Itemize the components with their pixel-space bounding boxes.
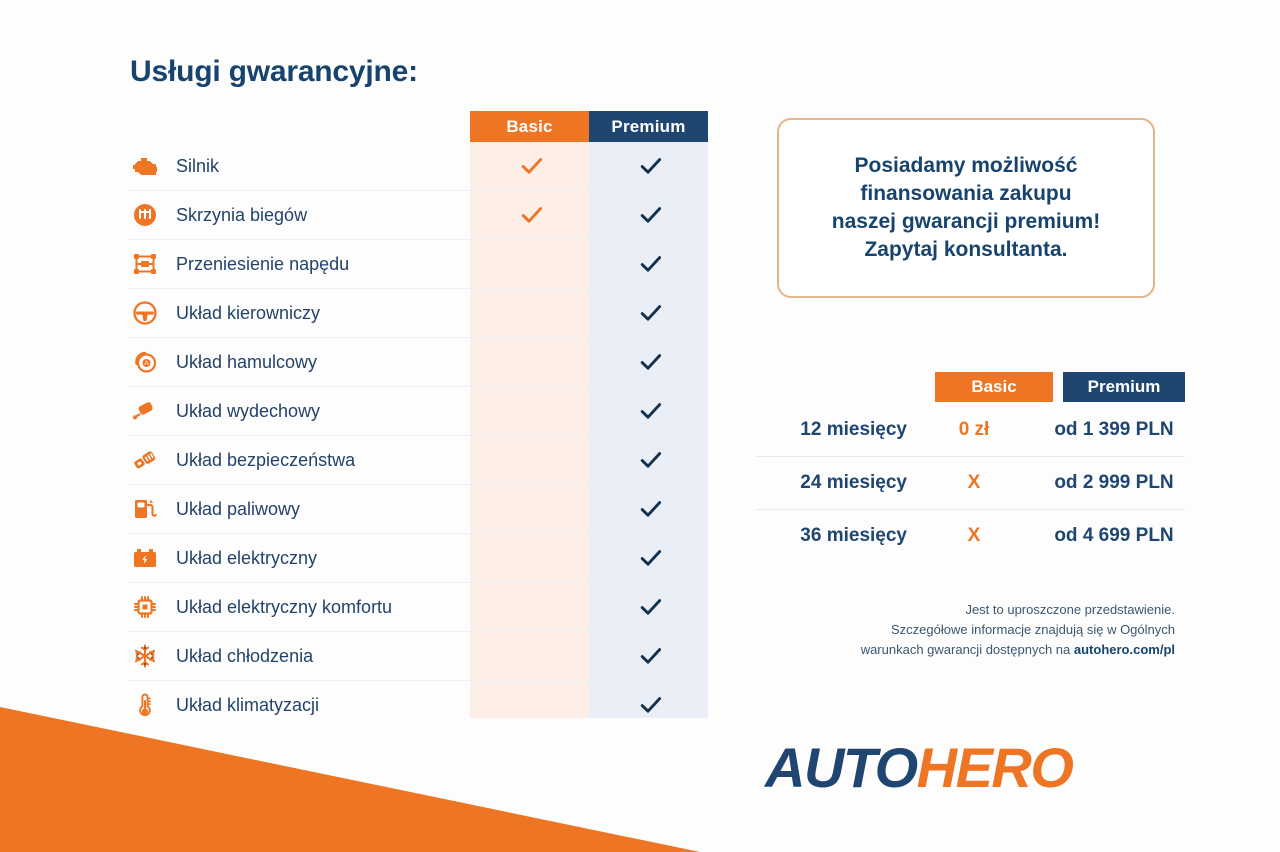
pricing-header-basic[interactable]: Basic: [935, 372, 1053, 402]
feature-row: Skrzynia biegów: [128, 191, 710, 240]
feature-rows: SilnikSkrzynia biegówPrzeniesienie napęd…: [128, 111, 710, 729]
premium-check-icon: [591, 549, 710, 567]
feature-label: Układ klimatyzacji: [162, 695, 472, 716]
premium-check-icon: [591, 500, 710, 518]
feature-label: Skrzynia biegów: [162, 205, 472, 226]
basic-check-icon: [472, 157, 591, 175]
pricing-basic-value: X: [915, 472, 1033, 494]
feature-row: Układ chłodzenia: [128, 632, 710, 681]
pricing-table: Basic Premium 12 miesięcy0 złod 1 399 PL…: [755, 372, 1185, 562]
pricing-term: 24 miesięcy: [755, 472, 915, 494]
disclaimer-line-3-prefix: warunkach gwarancji dostępnych na: [861, 642, 1074, 657]
feature-label: Układ wydechowy: [162, 401, 472, 422]
exhaust-muffler-icon: [128, 400, 162, 422]
feature-label: Układ elektryczny: [162, 548, 472, 569]
pricing-basic-value: X: [915, 525, 1033, 547]
callout-line-4: Zapytaj konsultanta.: [864, 238, 1067, 261]
pricing-header-gap: [1053, 372, 1063, 402]
pricing-header-row: Basic Premium: [755, 372, 1185, 402]
feature-label: Układ paliwowy: [162, 499, 472, 520]
drivetrain-axle-icon: [128, 252, 162, 276]
feature-comparison-table: Basic Premium SilnikSkrzynia biegówPrzen…: [128, 111, 710, 729]
feature-row: Układ elektryczny komfortu: [128, 583, 710, 632]
feature-row: Układ kierowniczy: [128, 289, 710, 338]
pricing-premium-value: od 4 699 PLN: [1043, 525, 1185, 547]
feature-row: Układ hamulcowy: [128, 338, 710, 387]
feature-label: Silnik: [162, 156, 472, 177]
premium-check-icon: [591, 206, 710, 224]
feature-label: Układ hamulcowy: [162, 352, 472, 373]
feature-row: Układ elektryczny: [128, 534, 710, 583]
logo-text-hero: HERO: [917, 736, 1073, 799]
premium-check-icon: [591, 451, 710, 469]
premium-check-icon: [591, 353, 710, 371]
callout-line-1: Posiadamy możliwość: [855, 154, 1078, 177]
offer-panel: Posiadamy możliwość finansowania zakupu …: [745, 0, 1245, 852]
thermometer-icon: [128, 692, 162, 718]
pricing-row: 24 miesięcyXod 2 999 PLN: [755, 457, 1185, 510]
feature-row: Układ bezpieczeństwa: [128, 436, 710, 485]
chip-icon: [128, 595, 162, 619]
feature-row: Przeniesienie napędu: [128, 240, 710, 289]
disclaimer-line-2: Szczegółowe informacje znajdują się w Og…: [891, 622, 1175, 637]
premium-check-icon: [591, 402, 710, 420]
feature-row: Układ klimatyzacji: [128, 681, 710, 729]
feature-row: Układ wydechowy: [128, 387, 710, 436]
feature-label: Układ chłodzenia: [162, 646, 472, 667]
snowflake-icon: [128, 644, 162, 668]
callout-line-2: finansowania zakupu: [860, 182, 1071, 205]
gearbox-icon: [128, 203, 162, 227]
pricing-rows: 12 miesięcy0 złod 1 399 PLN24 miesięcyXo…: [755, 404, 1185, 562]
pricing-premium-value: od 1 399 PLN: [1043, 419, 1185, 441]
premium-check-icon: [591, 696, 710, 714]
autohero-website-link[interactable]: autohero.com/pl: [1074, 642, 1175, 657]
engine-icon: [128, 155, 162, 177]
feature-label: Układ kierowniczy: [162, 303, 472, 324]
disclaimer-line-1: Jest to uproszczone przedstawienie.: [965, 602, 1175, 617]
warranty-services-panel: Usługi gwarancyjne: Basic Premium Silnik…: [128, 55, 728, 729]
basic-check-icon: [472, 206, 591, 224]
pricing-row: 36 miesięcyXod 4 699 PLN: [755, 510, 1185, 562]
disclaimer-text: Jest to uproszczone przedstawienie. Szcz…: [745, 600, 1175, 660]
pricing-term: 12 miesięcy: [755, 419, 915, 441]
feature-label: Układ bezpieczeństwa: [162, 450, 472, 471]
premium-check-icon: [591, 647, 710, 665]
feature-label: Przeniesienie napędu: [162, 254, 472, 275]
page-title: Usługi gwarancyjne:: [130, 55, 728, 89]
seatbelt-icon: [128, 449, 162, 471]
callout-line-3: naszej gwarancji premium!: [832, 210, 1100, 233]
pricing-header-premium[interactable]: Premium: [1063, 372, 1185, 402]
pricing-row: 12 miesięcy0 złod 1 399 PLN: [755, 404, 1185, 457]
premium-check-icon: [591, 157, 710, 175]
feature-row: Układ paliwowy: [128, 485, 710, 534]
fuel-pump-icon: [128, 497, 162, 521]
pricing-premium-value: od 2 999 PLN: [1043, 472, 1185, 494]
pricing-basic-value: 0 zł: [915, 419, 1033, 441]
feature-row: Silnik: [128, 142, 710, 191]
feature-label: Układ elektryczny komfortu: [162, 597, 472, 618]
steering-wheel-icon: [128, 301, 162, 325]
autohero-logo: AUTOHERO: [765, 735, 1072, 800]
premium-check-icon: [591, 255, 710, 273]
brake-disc-icon: [128, 350, 162, 374]
financing-callout-box: Posiadamy możliwość finansowania zakupu …: [777, 118, 1155, 298]
pricing-term: 36 miesięcy: [755, 525, 915, 547]
battery-icon: [128, 547, 162, 569]
infographic-canvas: Usługi gwarancyjne: Basic Premium Silnik…: [0, 0, 1280, 852]
logo-text-auto: AUTO: [765, 736, 917, 799]
premium-check-icon: [591, 304, 710, 322]
premium-check-icon: [591, 598, 710, 616]
